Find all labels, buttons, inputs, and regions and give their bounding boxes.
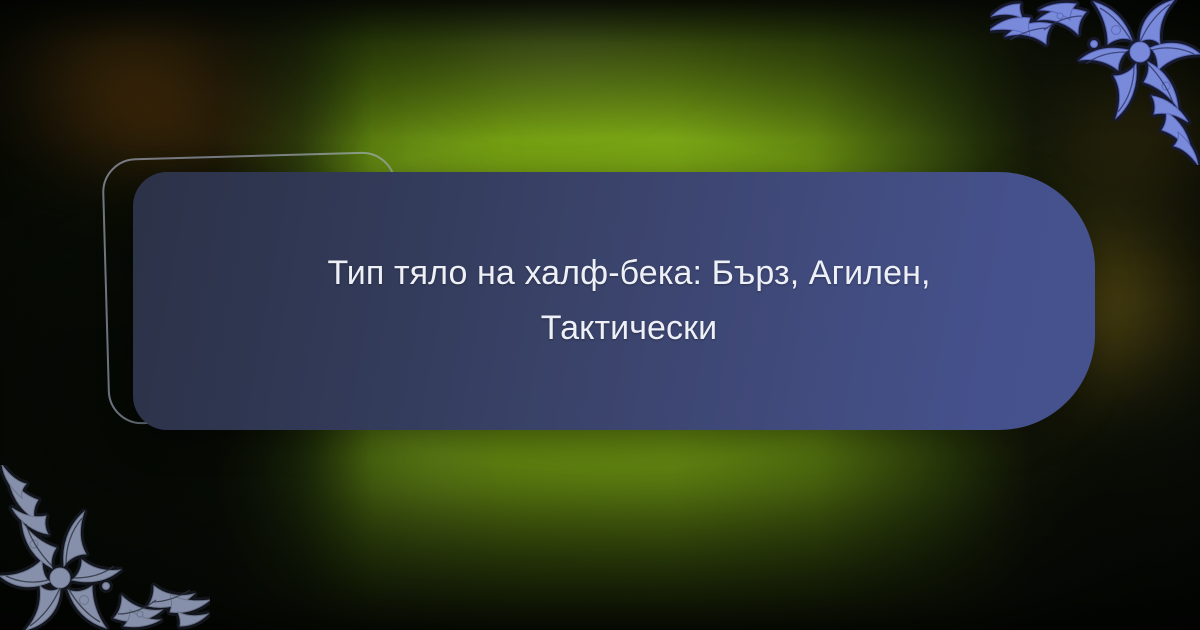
- social-card-canvas: Тип тяло на халф-бека: Бърз, Агилен, Так…: [0, 0, 1200, 630]
- title-card-content: Тип тяло на халф-бека: Бърз, Агилен, Так…: [133, 246, 1095, 356]
- title-card: Тип тяло на халф-бека: Бърз, Агилен, Так…: [133, 172, 1095, 430]
- bokeh-light-stripe-right: [1150, 380, 1200, 630]
- bokeh-pale-highlight: [420, 0, 680, 60]
- ornament-top-right: [990, 0, 1200, 165]
- ornament-bottom-left: [0, 465, 210, 630]
- bokeh-green-highlight: [380, 0, 860, 130]
- page-title: Тип тяло на халф-бека: Бърз, Агилен, Так…: [299, 246, 959, 356]
- bokeh-yellow-right-top: [1050, 30, 1200, 210]
- bokeh-amber-left: [10, 0, 260, 134]
